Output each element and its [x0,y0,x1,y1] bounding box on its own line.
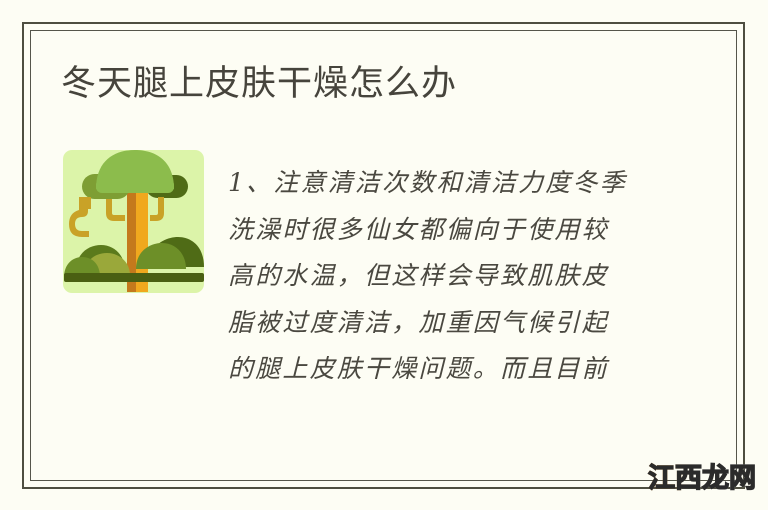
tree-illustration [62,147,210,307]
body-line: 洗澡时很多仙女都偏向于使用较 [228,207,664,254]
body-line: 高的水温，但这样会导致肌肤皮 [228,253,664,300]
canopy-main-base [96,179,174,193]
page-title: 冬天腿上皮肤干燥怎么办 [61,62,457,106]
site-watermark: 江西龙网 [648,458,756,492]
body-line: 1、注意清洁次数和清洁力度冬季 [228,160,664,207]
article-card: 冬天腿上皮肤干燥怎么办 [0,0,768,510]
body-line: 脂被过度清洁，加重因气候引起 [228,300,664,347]
vine-stem [85,197,91,209]
body-line: 的腿上皮肤干燥问题。而且目前 [228,346,664,393]
ground-line [64,273,204,282]
article-body: 1、注意清洁次数和清洁力度冬季 洗澡时很多仙女都偏向于使用较 高的水温，但这样会… [228,160,664,393]
